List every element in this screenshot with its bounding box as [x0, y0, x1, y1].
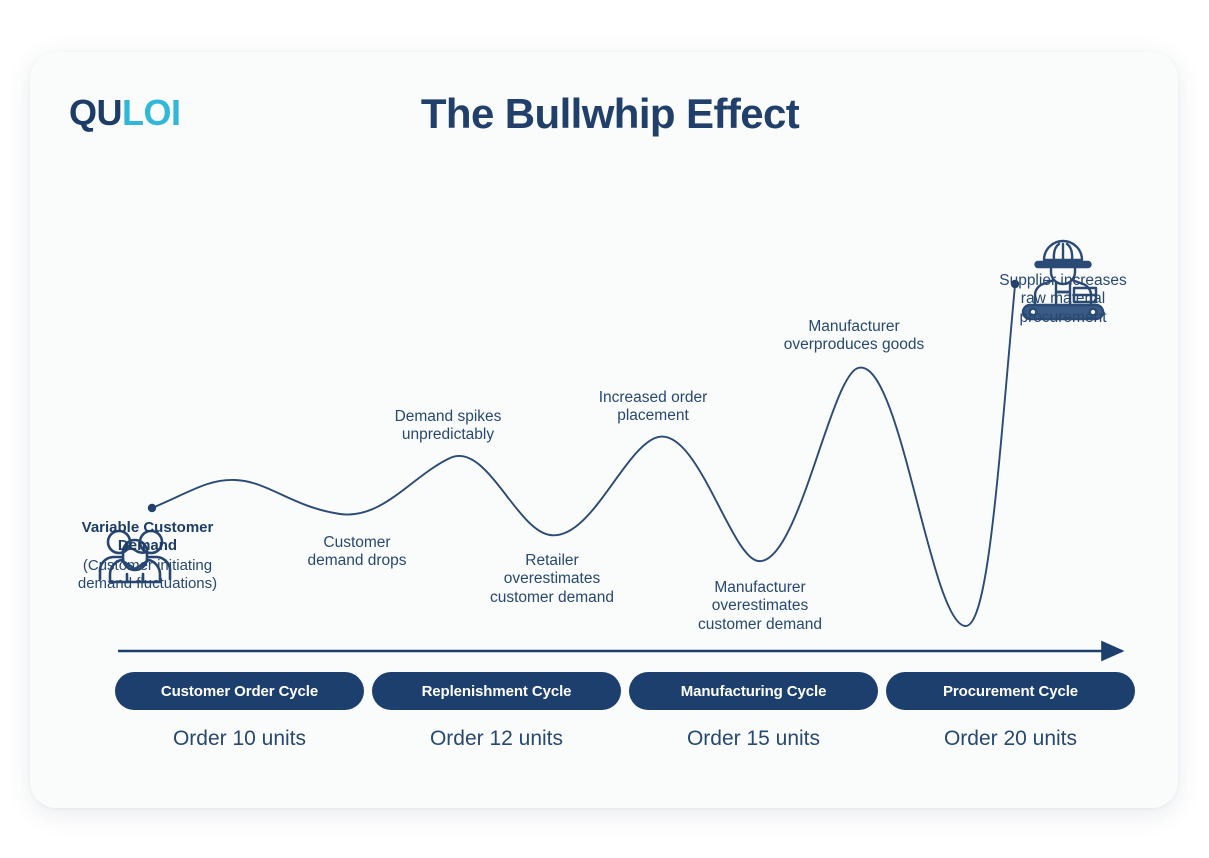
- cycle-pill-procurement-cycle[interactable]: Procurement Cycle: [886, 672, 1135, 710]
- curve-label-manufacturer-overproduces: Manufacturer overproduces goods: [764, 318, 944, 355]
- start-node-title: Variable Customer Demand: [40, 519, 255, 555]
- curve-label-retailer-overestimates: Retailer overestimates customer demand: [452, 552, 652, 607]
- curve-label-demand-spikes: Demand spikes unpredictably: [368, 408, 528, 445]
- cycle-order-replenishment-cycle: Order 12 units: [430, 727, 563, 751]
- cycle-order-procurement-cycle: Order 20 units: [944, 727, 1077, 751]
- start-node-block: Variable Customer Demand (Customer initi…: [40, 512, 255, 593]
- start-node-subtitle: (Customer initiating demand fluctuations…: [40, 557, 255, 593]
- cycle-column-customer-order: Customer Order Cycle Order 10 units: [115, 672, 364, 751]
- curve-label-customer-demand-drops: Customer demand drops: [277, 534, 437, 571]
- cycle-pill-manufacturing-cycle[interactable]: Manufacturing Cycle: [629, 672, 878, 710]
- curve-start-dot: [148, 504, 156, 512]
- cycle-column-replenishment: Replenishment Cycle Order 12 units: [372, 672, 621, 751]
- cycle-pill-replenishment-cycle[interactable]: Replenishment Cycle: [372, 672, 621, 710]
- cycle-pill-customer-order-cycle[interactable]: Customer Order Cycle: [115, 672, 364, 710]
- cycles-row: Customer Order Cycle Order 10 units Repl…: [115, 672, 1125, 751]
- cycle-column-manufacturing: Manufacturing Cycle Order 15 units: [629, 672, 878, 751]
- curve-label-manufacturer-overestimates: Manufacturer overestimates customer dema…: [660, 579, 860, 634]
- curve-label-increased-order-placement: Increased order placement: [573, 389, 733, 426]
- cycle-column-procurement: Procurement Cycle Order 20 units: [886, 672, 1135, 751]
- infographic-stage: QU LOI The Bullwhip Effect: [0, 0, 1209, 858]
- end-node-label: Supplier increases raw material procurem…: [978, 272, 1148, 327]
- infographic-card: QU LOI The Bullwhip Effect: [30, 52, 1178, 808]
- cycle-order-manufacturing-cycle: Order 15 units: [687, 727, 820, 751]
- cycle-order-customer-order-cycle: Order 10 units: [173, 727, 306, 751]
